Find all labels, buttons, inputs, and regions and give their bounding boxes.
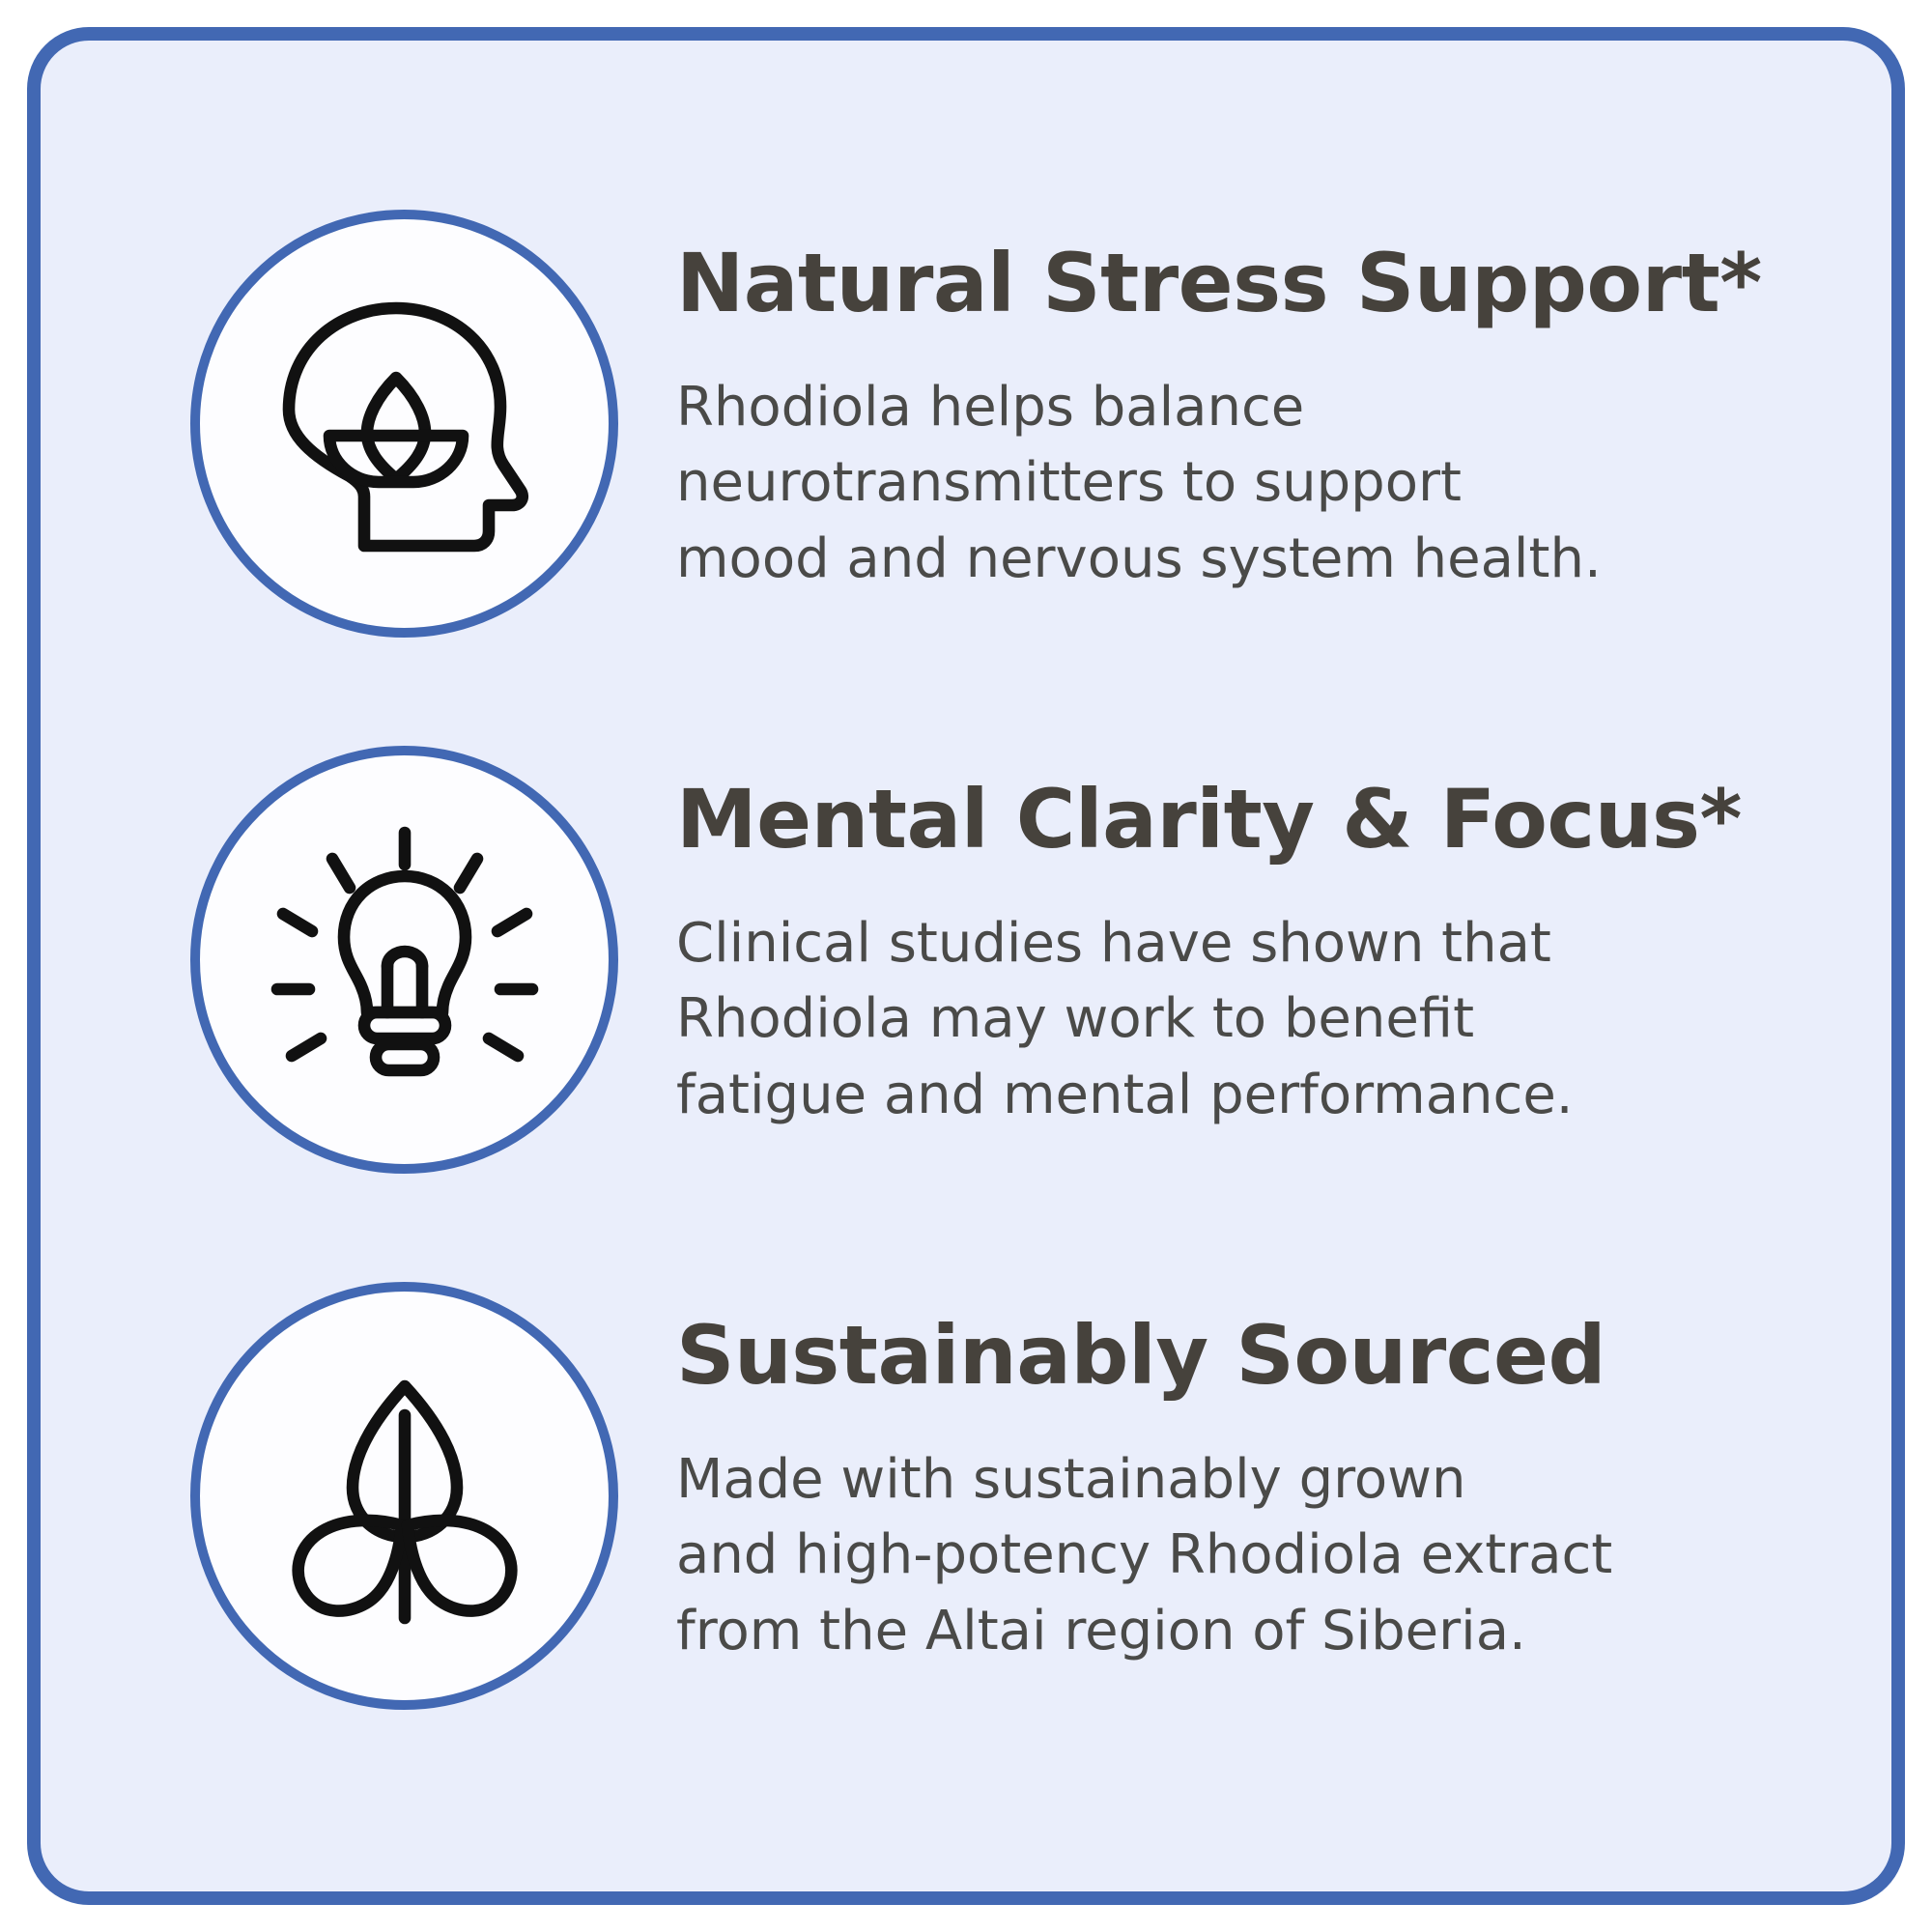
feature-text-block: Mental Clarity & Focus* Clinical studies… (676, 746, 1806, 1133)
benefits-card: Natural Stress Support* Rhodiola helps b… (27, 27, 1905, 1905)
lightbulb-icon (190, 746, 618, 1174)
feature-body: Clinical studies have shown that Rhodiol… (676, 906, 1806, 1133)
plant-leaf-icon (190, 1282, 618, 1710)
feature-text-block: Natural Stress Support* Rhodiola helps b… (676, 210, 1806, 597)
feature-text-block: Sustainably Sourced Made with sustainabl… (676, 1282, 1806, 1669)
head-lotus-icon (190, 210, 618, 638)
feature-body: Made with sustainably grown and high-pot… (676, 1442, 1806, 1669)
feature-row-mental-clarity-focus: Mental Clarity & Focus* Clinical studies… (41, 746, 1891, 1174)
feature-row-natural-stress-support: Natural Stress Support* Rhodiola helps b… (41, 210, 1891, 638)
feature-title: Natural Stress Support* (676, 242, 1806, 324)
feature-body: Rhodiola helps balance neurotransmitters… (676, 370, 1806, 597)
feature-title: Sustainably Sourced (676, 1315, 1806, 1396)
feature-title: Mental Clarity & Focus* (676, 779, 1806, 860)
feature-row-sustainably-sourced: Sustainably Sourced Made with sustainabl… (41, 1282, 1891, 1710)
feature-list: Natural Stress Support* Rhodiola helps b… (41, 41, 1891, 1891)
